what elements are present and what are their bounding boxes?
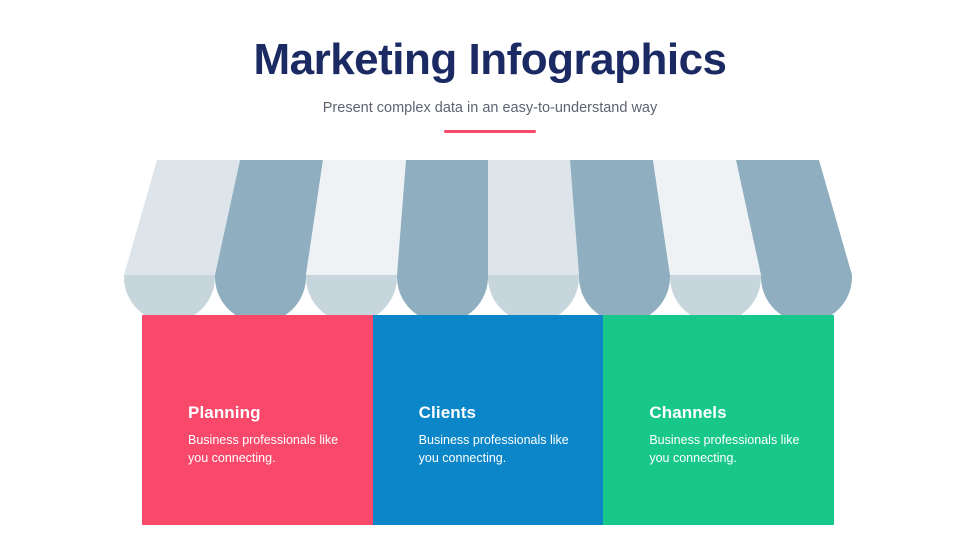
column-clients-text: Business professionals like you connecti… — [419, 431, 579, 467]
column-clients-title: Clients — [419, 403, 604, 423]
infographic-slide: Marketing Infographics Present complex d… — [0, 0, 980, 551]
column-clients[interactable]: Clients Business professionals like you … — [373, 315, 604, 525]
columns: Planning Business professionals like you… — [142, 315, 834, 525]
storefront-graphic: Planning Business professionals like you… — [124, 160, 852, 525]
column-channels-title: Channels — [649, 403, 834, 423]
page-subtitle: Present complex data in an easy-to-under… — [0, 100, 980, 116]
column-planning[interactable]: Planning Business professionals like you… — [142, 315, 373, 525]
column-planning-text: Business professionals like you connecti… — [188, 431, 348, 467]
awning-icon — [124, 160, 852, 320]
title-divider — [444, 130, 536, 133]
header: Marketing Infographics Present complex d… — [0, 36, 980, 133]
column-planning-title: Planning — [188, 403, 373, 423]
page-title: Marketing Infographics — [0, 36, 980, 84]
column-channels[interactable]: Channels Business professionals like you… — [603, 315, 834, 525]
column-channels-text: Business professionals like you connecti… — [649, 431, 809, 467]
